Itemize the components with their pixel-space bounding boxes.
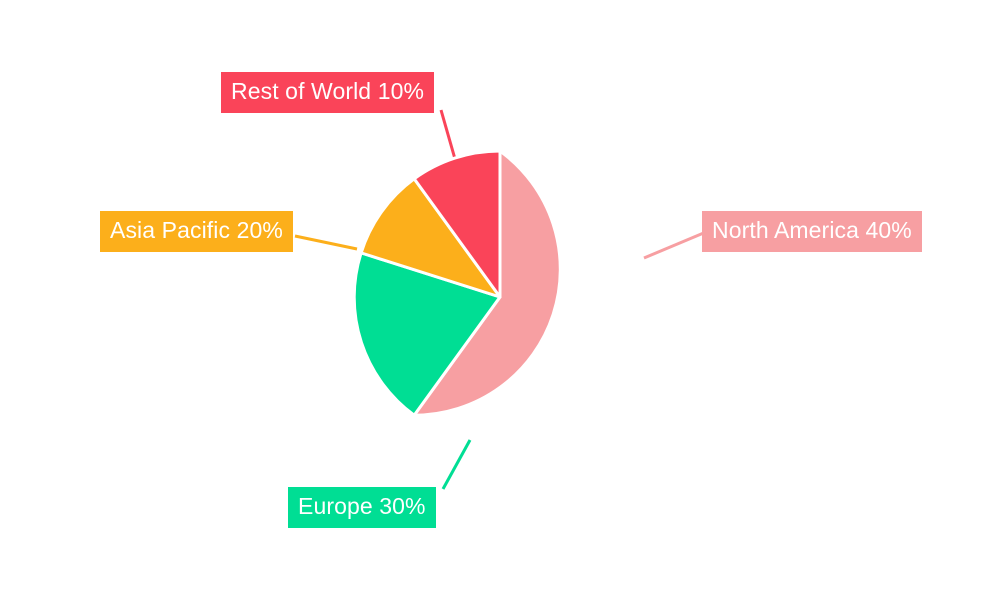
leader-line-north-america xyxy=(644,232,706,258)
pie-label-europe: Europe 30% xyxy=(288,487,436,528)
pie-label-asia-pacific: Asia Pacific 20% xyxy=(100,211,293,252)
pie-chart-canvas xyxy=(0,0,1000,600)
leader-line-europe xyxy=(443,440,470,489)
pie-slices xyxy=(354,151,560,415)
pie-label-rest-of-world: Rest of World 10% xyxy=(221,72,434,113)
pie-chart: North America 40% Europe 30% Asia Pacifi… xyxy=(0,0,1000,600)
leader-line-asia-pacific xyxy=(295,236,357,249)
pie-label-north-america: North America 40% xyxy=(702,211,922,252)
